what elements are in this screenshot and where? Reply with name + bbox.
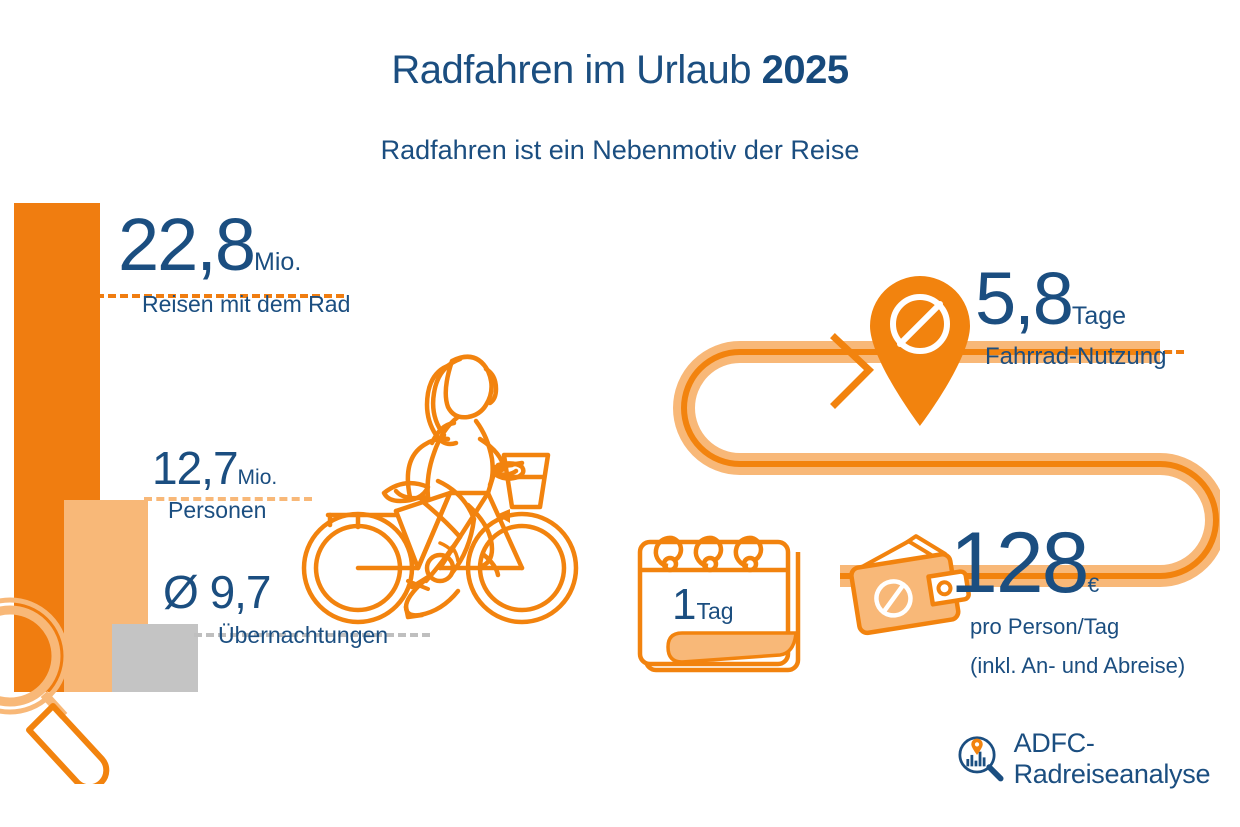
adfc-magnifier-chart-icon — [955, 728, 1006, 790]
stat-reisen-unit: Mio. — [254, 248, 301, 276]
calendar-unit: Tag — [696, 598, 733, 624]
stat-euro-unit: € — [1088, 574, 1100, 597]
cyclist-illustration — [300, 325, 590, 655]
calendar-label: 1Tag — [672, 580, 734, 630]
stat-uebernachtungen-prefix: Ø — [163, 566, 198, 618]
page-title: Radfahren im Urlaub 2025 — [0, 48, 1240, 93]
stat-reisen-value: 22,8 — [118, 203, 254, 286]
stat-pro-person-tag: 128€ pro Person/Tag (inkl. An- und Abrei… — [950, 525, 1185, 680]
stat-euro-value: 128 — [950, 515, 1088, 611]
stat-euro-caption-line2: (inkl. An- und Abreise) — [970, 653, 1185, 680]
stat-personen-value: 12,7 — [152, 442, 238, 494]
title-main: Radfahren im Urlaub — [391, 48, 761, 92]
magnifier-icon — [0, 594, 132, 784]
stat-personen-unit: Mio. — [238, 466, 278, 489]
stat-personen-caption: Personen — [168, 497, 277, 524]
infographic-canvas: Radfahren im Urlaub 2025 Radfahren ist e… — [0, 0, 1240, 827]
stat-euro-caption-line1: pro Person/Tag — [970, 614, 1185, 641]
page-subtitle: Radfahren ist ein Nebenmotiv der Reise — [0, 135, 1240, 166]
stat-tage-caption: Fahrrad-Nutzung — [985, 343, 1166, 371]
stat-personen: 12,7Mio. Personen — [152, 448, 277, 524]
map-pin-icon — [862, 268, 982, 428]
stat-tage-unit: Tage — [1072, 302, 1126, 330]
stat-reisen: 22,8Mio. Reisen mit dem Rad — [118, 212, 350, 318]
calendar-number: 1 — [672, 580, 696, 629]
stat-reisen-caption: Reisen mit dem Rad — [142, 291, 350, 318]
stat-tage-value: 5,8 — [975, 257, 1072, 340]
logo-text: ADFC-Radreiseanalyse — [1014, 728, 1240, 790]
title-year: 2025 — [762, 48, 849, 92]
stat-uebernachtungen-value: 9,7 — [210, 566, 271, 618]
stat-fahrrad-nutzung: 5,8Tage Fahrrad-Nutzung — [975, 266, 1166, 371]
logo[interactable]: ADFC-Radreiseanalyse — [955, 728, 1240, 790]
